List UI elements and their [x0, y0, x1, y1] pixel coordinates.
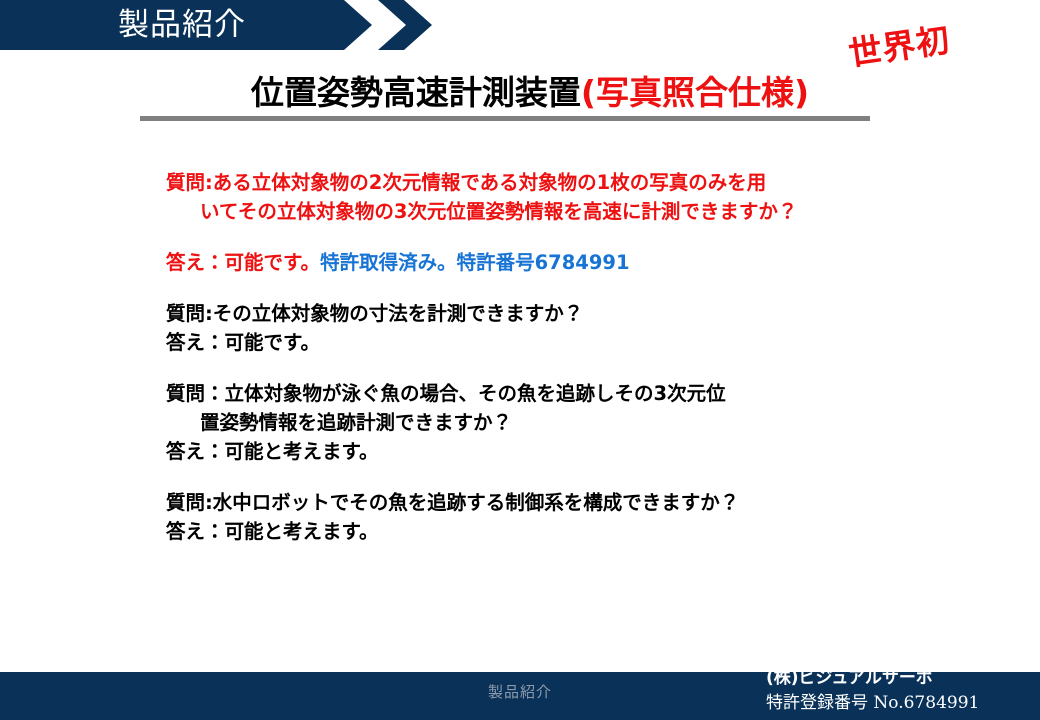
- qa-block: 質問:ある立体対象物の2次元情報である対象物の1枚の写真のみを用いてその立体対象…: [166, 168, 986, 226]
- header-banner: 製品紹介: [0, 0, 440, 50]
- qa-line-suffix: 特許取得済み。特許番号6784991: [320, 251, 629, 274]
- banner-chevron-icon-2: [378, 0, 432, 50]
- slide-root: { "header": { "banner_label": "製品紹介", "b…: [0, 0, 1040, 720]
- page-title-paren-close: ): [794, 73, 809, 112]
- qa-line-text: 答え：可能です。: [166, 251, 320, 274]
- qa-block: 質問:水中ロボットでその魚を追跡する制御系を構成できますか？答え：可能と考えます…: [166, 488, 986, 546]
- qa-block: 質問：立体対象物が泳ぐ魚の場合、その魚を追跡しその3次元位置姿勢情報を追跡計測で…: [166, 379, 986, 466]
- qa-line-text: 質問:その立体対象物の寸法を計測できますか？: [166, 302, 583, 325]
- page-title: 位置姿勢高速計測装置(写真照合仕様): [251, 74, 809, 112]
- qa-line-text: いてその立体対象物の3次元位置姿勢情報を高速に計測できますか？: [200, 200, 797, 223]
- qa-line-text: 質問:水中ロボットでその魚を追跡する制御系を構成できますか？: [166, 491, 739, 514]
- page-title-wrap: 位置姿勢高速計測装置(写真照合仕様): [0, 74, 1040, 112]
- qa-line: 質問:ある立体対象物の2次元情報である対象物の1枚の写真のみを用: [166, 168, 986, 197]
- qa-line-text: 置姿勢情報を追跡計測できますか？: [200, 411, 512, 434]
- banner-label: 製品紹介: [118, 2, 246, 48]
- qa-line-text: 答え：可能と考えます。: [166, 440, 379, 463]
- qa-line-text: 質問:ある立体対象物の2次元情報である対象物の1枚の写真のみを用: [166, 171, 766, 194]
- qa-block: 質問:その立体対象物の寸法を計測できますか？答え：可能です。: [166, 299, 986, 357]
- qa-block: 答え：可能です。特許取得済み。特許番号6784991: [166, 248, 986, 277]
- footer-company-name: (株)ビジュアルサーボ: [766, 666, 1026, 691]
- page-title-paren-text: 写真照合仕様: [596, 73, 794, 112]
- qa-line: 答え：可能です。: [166, 328, 986, 357]
- qa-line: 答え：可能と考えます。: [166, 517, 986, 546]
- qa-line-text: 質問：立体対象物が泳ぐ魚の場合、その魚を追跡しその3次元位: [166, 382, 726, 405]
- qa-line: 答え：可能です。特許取得済み。特許番号6784991: [166, 248, 986, 277]
- qa-line-text: 答え：可能と考えます。: [166, 520, 379, 543]
- world-first-stamp: 世界初: [845, 13, 953, 75]
- footer-right-block: (株)ビジュアルサーボ 特許登録番号 No.6784991: [766, 666, 1026, 716]
- qa-line: 質問：立体対象物が泳ぐ魚の場合、その魚を追跡しその3次元位: [166, 379, 986, 408]
- qa-line-text: 答え：可能です。: [166, 331, 320, 354]
- qa-line: いてその立体対象物の3次元位置姿勢情報を高速に計測できますか？: [166, 197, 986, 226]
- qa-line: 質問:水中ロボットでその魚を追跡する制御系を構成できますか？: [166, 488, 986, 517]
- qa-line: 質問:その立体対象物の寸法を計測できますか？: [166, 299, 986, 328]
- page-title-main: 位置姿勢高速計測装置: [251, 73, 581, 112]
- footer-bar: 製品紹介 (株)ビジュアルサーボ 特許登録番号 No.6784991: [0, 672, 1040, 720]
- qa-line: 答え：可能と考えます。: [166, 437, 986, 466]
- qa-line: 置姿勢情報を追跡計測できますか？: [166, 408, 986, 437]
- page-title-paren-open: (: [581, 73, 596, 112]
- qa-area: 質問:ある立体対象物の2次元情報である対象物の1枚の写真のみを用いてその立体対象…: [166, 168, 986, 546]
- title-underline-rule: [140, 116, 870, 121]
- footer-patent-number: 特許登録番号 No.6784991: [766, 691, 1026, 716]
